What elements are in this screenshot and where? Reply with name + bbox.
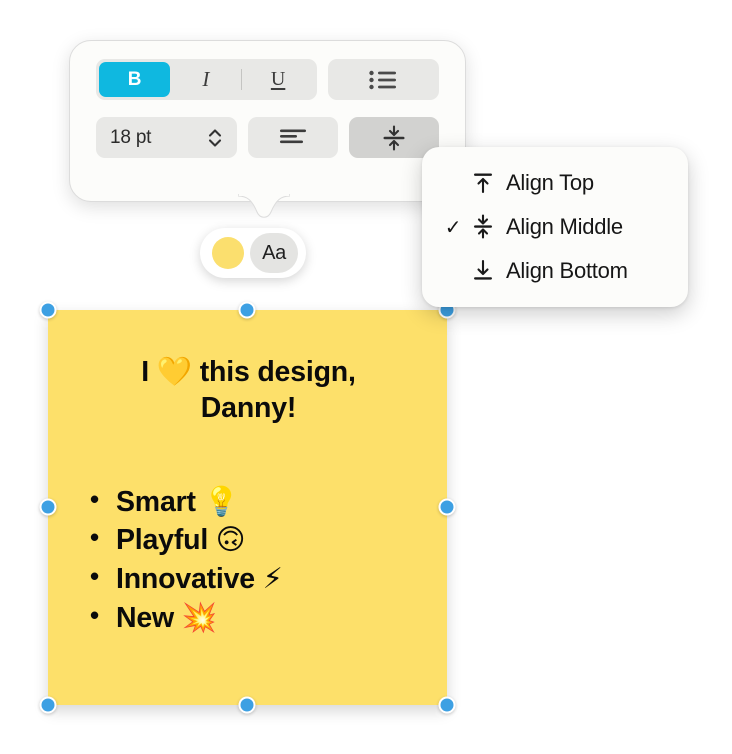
bulleted-list-button[interactable] — [328, 59, 439, 100]
resize-handle-middle-right[interactable] — [439, 499, 456, 516]
bold-button[interactable]: B — [99, 62, 170, 97]
color-swatch-button[interactable] — [212, 237, 244, 269]
note-bullet-list: Smart 💡 Playful 🙃 Innovative ⚡ New 💥 — [68, 483, 429, 637]
vertical-align-middle-icon — [381, 124, 407, 152]
list-item: Playful 🙃 — [88, 521, 429, 560]
font-size-stepper[interactable]: 18 pt — [96, 117, 237, 158]
note-heading-line2: Danny! — [201, 392, 296, 424]
text-style-segment: B I U — [96, 59, 317, 100]
sticky-note[interactable]: I 💛 this design, Danny! Smart 💡 Playful … — [48, 310, 447, 705]
note-heading-suffix: this design, — [192, 356, 356, 388]
toolbar-row-style: B I U — [70, 59, 465, 100]
collision-emoji: 💥 — [182, 601, 217, 634]
align-left-button[interactable] — [248, 117, 338, 158]
list-item: New 💥 — [88, 599, 429, 638]
note-heading-prefix: I — [141, 356, 156, 388]
menu-item-align-top[interactable]: Align Top — [422, 161, 688, 205]
lightbulb-emoji: 💡 — [204, 485, 239, 518]
text-format-popover: B I U 18 pt — [69, 40, 466, 202]
canvas: I 💛 this design, Danny! Smart 💡 Playful … — [0, 0, 732, 754]
menu-item-align-bottom[interactable]: Align Bottom — [422, 249, 688, 293]
resize-handle-bottom-center[interactable] — [239, 697, 256, 714]
align-dropdown-menu: Align Top ✓ Align Middle Align Bot — [422, 147, 688, 307]
list-item-label: Innovative — [116, 563, 255, 595]
align-top-icon — [466, 171, 500, 195]
align-left-icon — [278, 128, 308, 148]
style-pill[interactable]: Aa — [200, 228, 306, 278]
underline-button[interactable]: U — [242, 62, 313, 97]
bulleted-list-icon — [368, 69, 398, 91]
resize-handle-bottom-right[interactable] — [439, 697, 456, 714]
note-heading: I 💛 this design, Danny! — [82, 354, 415, 427]
checkmark-icon: ✓ — [440, 215, 466, 240]
resize-handle-top-left[interactable] — [40, 302, 57, 319]
toolbar-row-layout: 18 pt — [70, 117, 465, 158]
upside-down-face-emoji: 🙃 — [216, 523, 246, 556]
high-voltage-emoji: ⚡ — [263, 562, 283, 595]
resize-handle-bottom-left[interactable] — [40, 697, 57, 714]
text-format-button[interactable]: Aa — [250, 233, 298, 273]
resize-handle-middle-left[interactable] — [40, 499, 57, 516]
menu-item-align-middle[interactable]: ✓ Align Middle — [422, 205, 688, 249]
list-item-label: New — [116, 602, 174, 634]
menu-item-label: Align Middle — [500, 214, 623, 240]
resize-handle-top-center[interactable] — [239, 302, 256, 319]
align-middle-icon — [466, 214, 500, 240]
menu-item-label: Align Bottom — [500, 258, 628, 284]
note-content: I 💛 this design, Danny! Smart 💡 Playful … — [48, 354, 447, 637]
list-item-label: Playful — [116, 524, 208, 556]
stepper-chevrons-icon[interactable] — [207, 126, 223, 150]
menu-item-label: Align Top — [500, 170, 594, 196]
yellow-heart-emoji: 💛 — [157, 355, 192, 388]
list-item: Smart 💡 — [88, 483, 429, 522]
align-bottom-icon — [466, 259, 500, 283]
italic-button[interactable]: I — [170, 62, 241, 97]
list-item: Innovative ⚡ — [88, 560, 429, 599]
font-size-value: 18 pt — [110, 127, 151, 149]
list-item-label: Smart — [116, 486, 196, 518]
